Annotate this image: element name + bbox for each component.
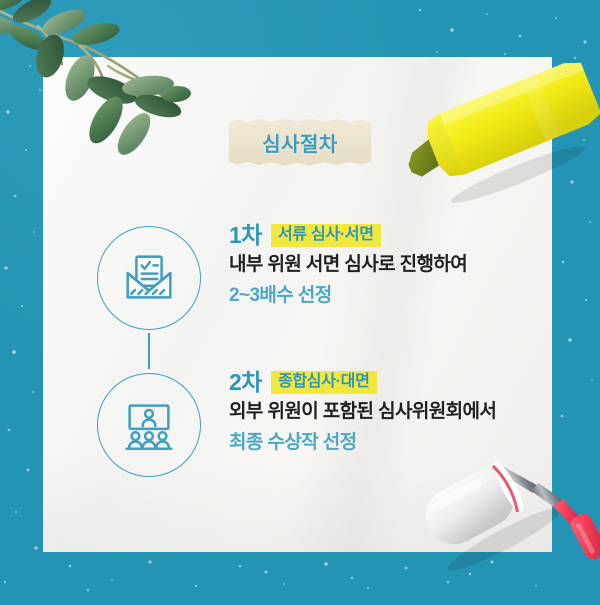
presentation-audience-icon: [118, 394, 180, 456]
step-1-text-block: 1차 서류 심사·서면 내부 위원 서면 심사로 진행하여 2~3배수 선정: [229, 224, 467, 310]
step-2-tag: 종합심사·대면: [271, 371, 377, 394]
envelope-document-check-icon: [118, 247, 180, 309]
step-1-line-1: 내부 위원 서면 심사로 진행하여: [229, 251, 467, 280]
step-2-heading-row: 2차 종합심사·대면: [229, 371, 496, 394]
yellow-highlighter-pen-decoration: [392, 62, 600, 212]
step-1-heading-row: 1차 서류 심사·서면: [229, 224, 467, 247]
page-title: 심사절차: [229, 118, 371, 166]
banner: 심사절차: [229, 118, 371, 166]
paint-roller-decoration: [425, 440, 600, 605]
step-1-icon-circle: [97, 226, 201, 330]
step-1-tag: 서류 심사·서면: [271, 224, 381, 247]
step-2-icon-circle: [97, 373, 201, 477]
step-1-ordinal: 1차: [229, 224, 262, 247]
step-1-line-2: 2~3배수 선정: [229, 282, 467, 311]
olive-branch-decoration: [0, 0, 238, 174]
step-connector-line: [148, 333, 150, 369]
step-2-ordinal: 2차: [229, 371, 262, 394]
step-2-line-1: 외부 위원이 포함된 심사위원회에서: [229, 398, 496, 427]
